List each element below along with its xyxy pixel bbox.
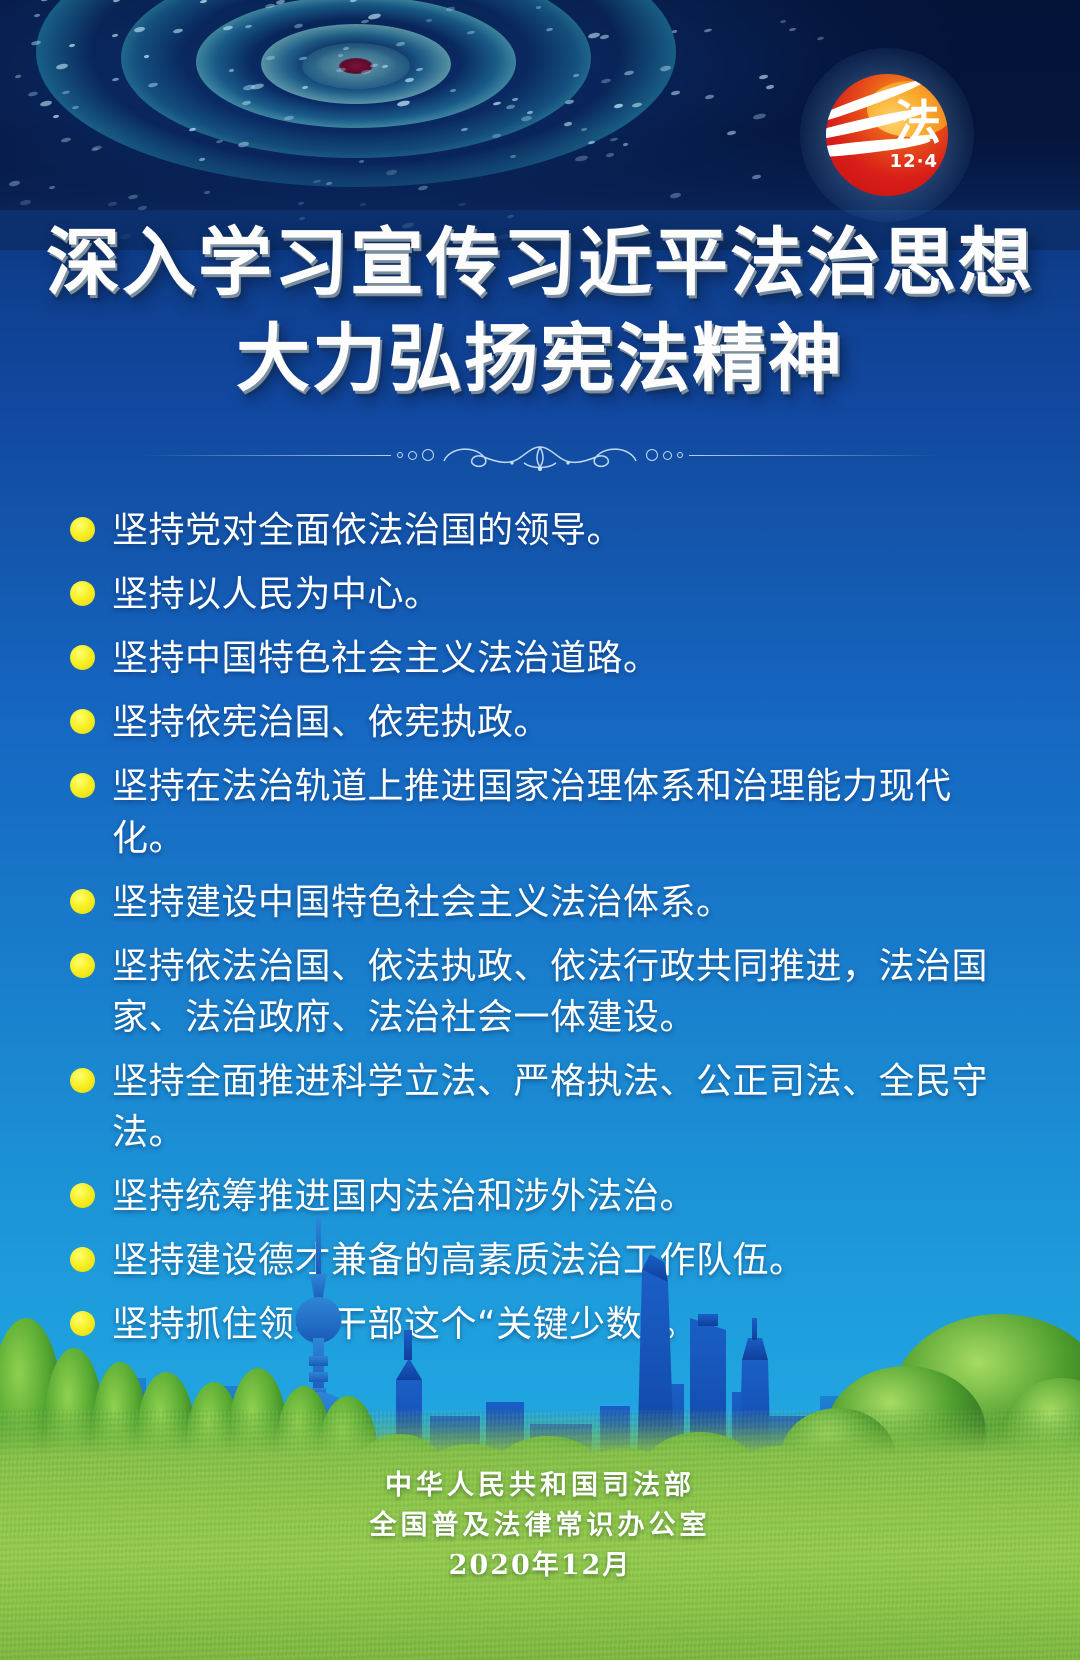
ceiling-light-dot	[229, 69, 234, 72]
ceiling-light-dot	[521, 115, 533, 122]
ceiling-light-dot	[39, 100, 52, 107]
list-item-label: 坚持以人民为中心。	[112, 569, 441, 620]
poster-canvas: 法 12·4 深入学习宣传习近平法治思想 大力弘扬宪法精神	[0, 0, 1080, 1660]
bullet-dot-icon	[70, 773, 95, 798]
ceiling-light-dot	[71, 105, 79, 109]
ceiling-light-dot	[624, 70, 634, 76]
ceiling-light-dot	[242, 84, 255, 91]
ceiling-light-dot	[446, 6, 456, 12]
footer-line-office: 全国普及法律常识办公室	[0, 1506, 1080, 1546]
ceiling-light-dot	[536, 6, 542, 10]
divider-bead	[646, 449, 658, 461]
ceiling-light-dot	[672, 30, 678, 34]
ceiling-light-dot	[147, 82, 157, 88]
ceiling-light-dot	[349, 0, 357, 3]
ceiling-light-dot	[632, 102, 643, 108]
divider-bead	[408, 451, 417, 460]
ceiling-light-dot	[266, 55, 275, 60]
ceiling-light-dot	[601, 78, 612, 84]
list-item-label: 坚持建设中国特色社会主义法治体系。	[112, 877, 733, 928]
ceiling-light-dot	[68, 43, 74, 47]
footer-line-date: 2020年12月	[0, 1546, 1080, 1586]
logo-date-label: 12·4	[890, 151, 938, 172]
ceiling-light-dot	[111, 77, 118, 81]
ceiling-light-dot	[361, 19, 370, 24]
title-line-1: 深入学习宣传习近平法治思想	[0, 226, 1080, 300]
bullet-dot-icon	[70, 645, 95, 670]
ornamental-divider	[0, 432, 1080, 478]
logo-disc: 法 12·4	[826, 74, 948, 196]
list-item: 坚持建设中国特色社会主义法治体系。	[70, 877, 1010, 928]
ceiling-light-dot	[223, 25, 234, 31]
divider-bead	[422, 449, 434, 461]
ceiling-light-dot	[335, 67, 346, 73]
divider-bead	[663, 451, 672, 460]
ceiling-light-dot	[112, 0, 120, 3]
list-item-label: 坚持党对全面依法治国的领导。	[112, 505, 623, 556]
list-item-label: 坚持依法治国、依法执政、依法行政共同推进，法治国家、法治政府、法治社会一体建设。	[112, 941, 1010, 1043]
divider-flourish-icon	[440, 435, 640, 475]
list-item-label: 坚持在法治轨道上推进国家治理体系和治理能力现代化。	[112, 761, 1010, 863]
list-item: 坚持依法治国、依法执政、依法行政共同推进，法治国家、法治政府、法治社会一体建设。	[70, 941, 1010, 1043]
divider-rule-left	[141, 455, 391, 456]
ceiling-light-dot	[30, 40, 41, 46]
footer-credits: 中华人民共和国司法部 全国普及法律常识办公室 2020年12月	[0, 1466, 1080, 1586]
ceiling-light-dot	[789, 27, 796, 31]
list-item: 坚持党对全面依法治国的领导。	[70, 505, 1010, 556]
bullet-dot-icon	[70, 889, 95, 914]
divider-beads-left	[391, 449, 440, 461]
ceiling-light-dot	[265, 3, 276, 9]
list-item: 坚持在法治轨道上推进国家治理体系和治理能力现代化。	[70, 761, 1010, 863]
ceiling-light-dot	[28, 91, 39, 97]
divider-bead	[397, 452, 403, 458]
ceiling-light-dot	[302, 85, 308, 89]
ceiling-light-dot	[200, 0, 207, 3]
ceiling-light-dot	[55, 63, 68, 70]
constitution-day-logo: 法 12·4	[826, 74, 948, 196]
ceiling-light-dot	[361, 69, 372, 75]
bullet-dot-icon	[70, 517, 95, 542]
divider-rule-right	[689, 455, 939, 456]
ceiling-light-dot	[338, 54, 344, 58]
ceiling-light-dot	[382, 64, 388, 68]
ceiling-light-dot	[368, 13, 382, 21]
ceiling-light-dot	[425, 18, 431, 22]
divider-beads-right	[640, 449, 689, 461]
ceiling-light-dot	[817, 36, 825, 40]
ceiling-light-dot	[343, 46, 349, 50]
ceiling-light-dot	[62, 90, 71, 95]
ceiling-light-dot	[34, 13, 40, 17]
ceiling-light-dot	[572, 73, 578, 77]
title-line-2: 大力弘扬宪法精神	[0, 322, 1080, 396]
ceiling-light-dot	[505, 104, 514, 109]
ceiling-light-dot	[396, 100, 409, 108]
list-item: 坚持中国特色社会主义法治道路。	[70, 633, 1010, 684]
ceiling-light-dot	[466, 30, 475, 35]
list-item: 坚持依宪治国、依宪执政。	[70, 697, 1010, 748]
ceiling-light-dot	[133, 25, 145, 32]
bullet-dot-icon	[70, 581, 95, 606]
footer-line-ministry: 中华人民共和国司法部	[0, 1466, 1080, 1506]
ceiling-light-dot	[704, 28, 712, 33]
list-item: 坚持以人民为中心。	[70, 569, 1010, 620]
divider-bead	[677, 452, 683, 458]
ceiling-light-dot	[493, 102, 502, 107]
ceiling-light-dot	[293, 23, 303, 29]
ceiling-light-dot	[112, 33, 119, 37]
ceiling-light-dot	[753, 113, 767, 121]
ceiling-light-dot	[449, 89, 456, 93]
ceiling-light-dot	[545, 27, 553, 32]
ceiling-light-dot	[705, 94, 714, 99]
list-item-label: 坚持中国特色社会主义法治道路。	[112, 633, 660, 684]
logo-fa-character: 法	[894, 100, 941, 147]
list-item-label: 坚持依宪治国、依宪执政。	[112, 697, 550, 748]
page-title: 深入学习宣传习近平法治思想 大力弘扬宪法精神	[0, 226, 1080, 396]
ceiling-light-dot	[173, 28, 183, 34]
ceiling-light-dot	[659, 65, 671, 72]
ceiling-light-dot	[242, 100, 251, 105]
bullet-dot-icon	[70, 709, 95, 734]
ceiling-light-dot	[614, 103, 623, 108]
ceiling-light-dot	[671, 90, 680, 95]
ceiling-light-dot	[564, 121, 573, 126]
bullet-dot-icon	[70, 1068, 95, 1093]
scenery: 中华人民共和国司法部 全国普及法律常识办公室 2020年12月	[0, 1140, 1080, 1660]
ceiling-light-dot	[512, 98, 518, 102]
ceiling-light-dot	[276, 0, 286, 5]
ceiling-light-dot	[299, 56, 307, 61]
ceiling-light-dot	[588, 31, 601, 38]
ceiling-light-dot	[396, 42, 406, 48]
ceiling-light-dot	[144, 54, 149, 57]
ceiling-light-dot	[780, 19, 787, 23]
ceiling-light-dot	[283, 115, 294, 121]
ceiling-light-dot	[244, 24, 251, 28]
bullet-dot-icon	[70, 953, 95, 978]
ceiling-light-dot	[759, 74, 768, 79]
ceiling-light-dot	[766, 84, 775, 89]
ceiling-light-dot	[405, 77, 415, 83]
ceiling-light-dot	[599, 34, 608, 39]
ceiling-light-dot	[41, 0, 49, 2]
ceiling-light-dot	[370, 63, 378, 68]
ceiling-light-dot	[527, 110, 533, 114]
ceiling-light-dot	[415, 68, 422, 72]
ceiling-light-dot	[15, 74, 21, 78]
ceiling-light-dot	[53, 115, 59, 119]
ceiling-light-dot	[565, 99, 575, 105]
